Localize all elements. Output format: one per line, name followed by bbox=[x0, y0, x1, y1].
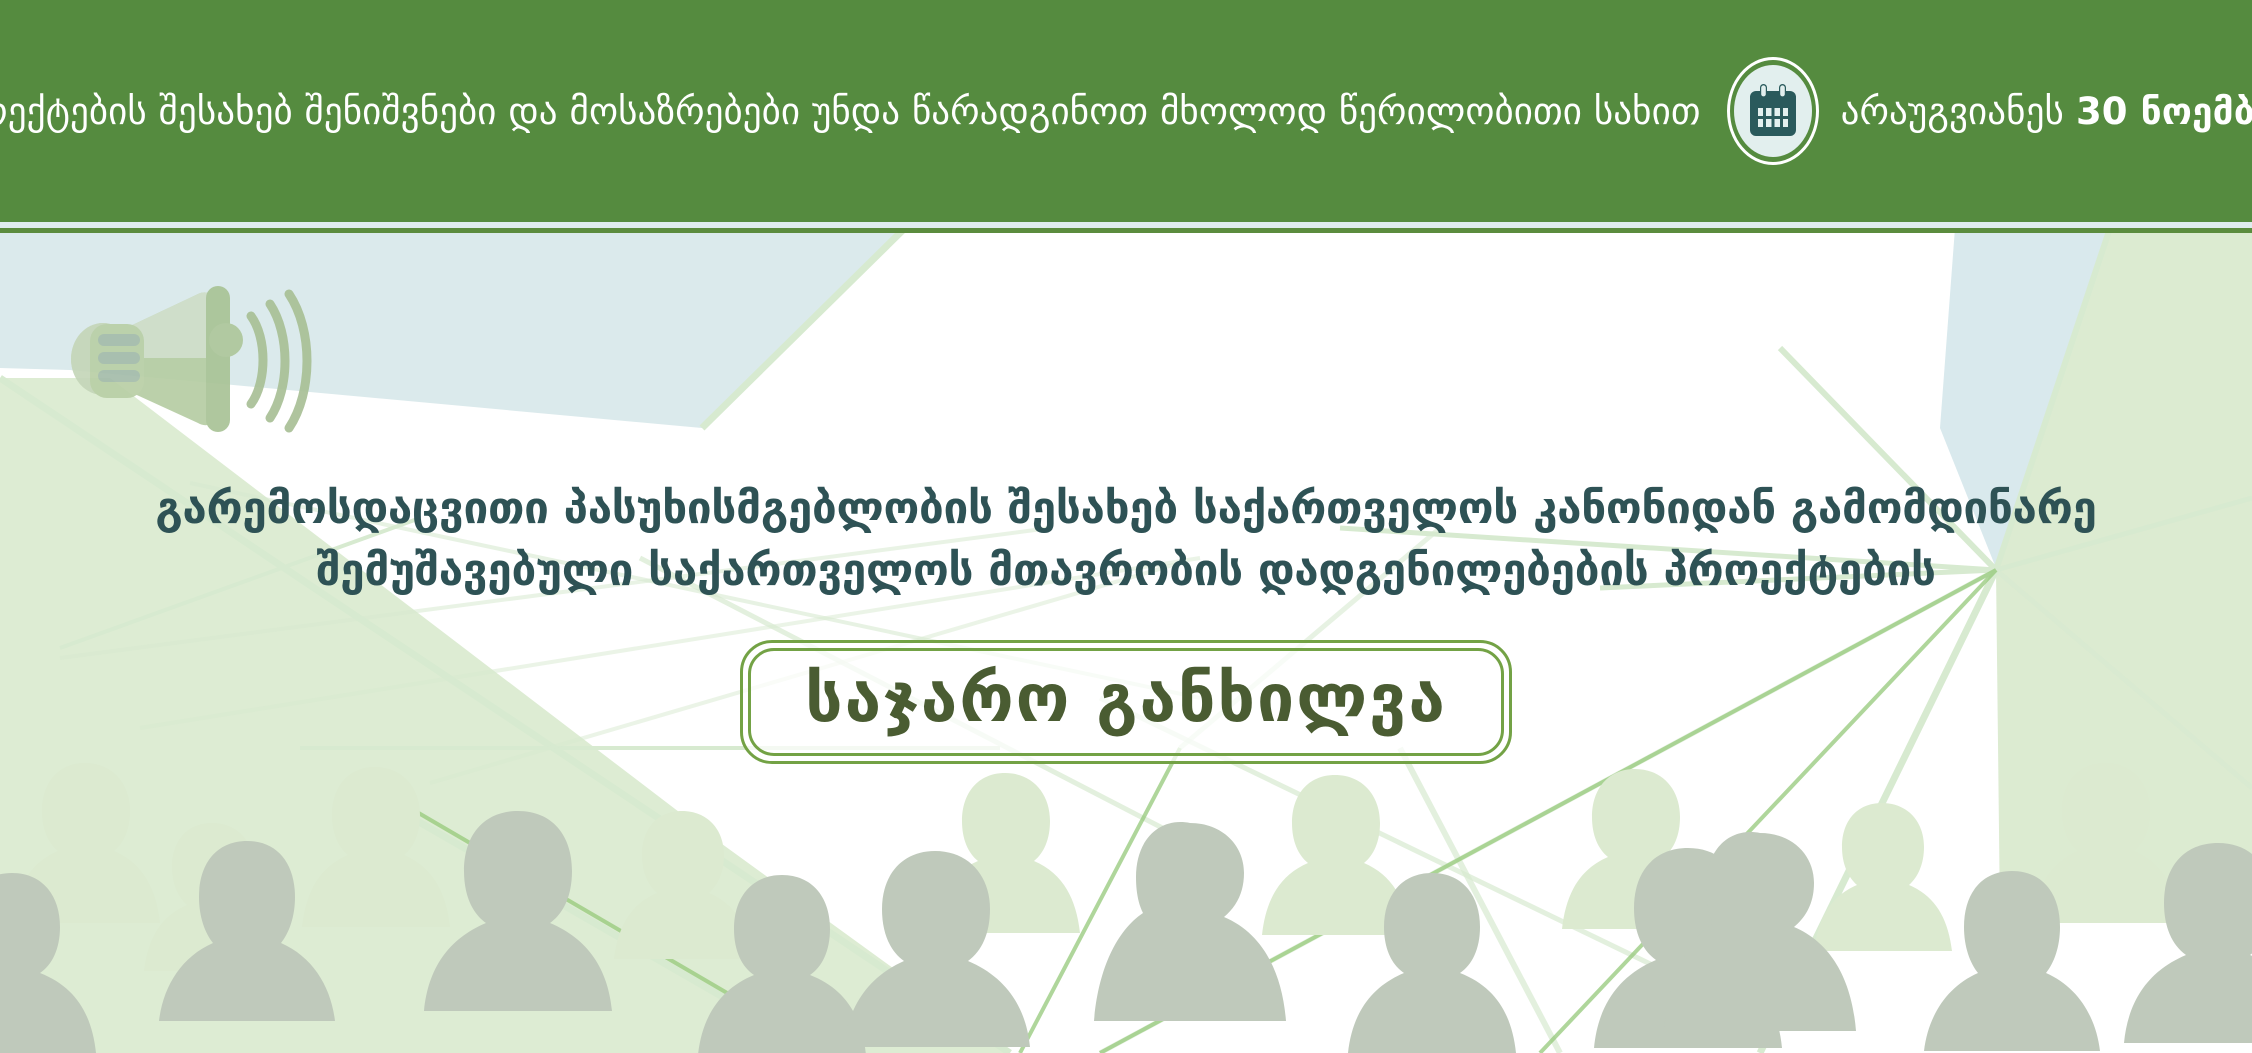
megaphone-icon bbox=[48, 272, 318, 452]
headline-line-2: შემუშავებული საქართველოს მთავრობის დადგე… bbox=[0, 540, 2252, 602]
banner-notice-text: პროექტების შესახებ შენიშვნები და მოსაზრე… bbox=[0, 93, 1701, 130]
megaphone-rim bbox=[206, 286, 230, 432]
megaphone-knob bbox=[209, 323, 243, 357]
calendar-icon bbox=[1727, 57, 1819, 165]
banner-content: პროექტების შესახებ შენიშვნები და მოსაზრე… bbox=[0, 57, 2252, 165]
badge-label: საჯარო განხილვა bbox=[805, 661, 1447, 737]
banner-divider-rule bbox=[0, 228, 2252, 233]
megaphone-fingers bbox=[98, 334, 140, 382]
banner-deadline-date: 30 ნოემბრისა bbox=[2076, 93, 2252, 130]
banner-deadline-prefix: არაუგვიანეს bbox=[1841, 93, 2064, 130]
badge-inner-border: საჯარო განხილვა bbox=[748, 648, 1504, 756]
top-notice-banner: პროექტების შესახებ შენიშვნები და მოსაზრე… bbox=[0, 0, 2252, 222]
headline-block: გარემოსდაცვითი პასუხისმგებლობის შესახებ … bbox=[0, 478, 2252, 602]
public-hearing-badge: საჯარო განხილვა bbox=[0, 640, 2252, 764]
calendar-glyph bbox=[1747, 83, 1799, 139]
crowd-back-row bbox=[12, 763, 2180, 981]
megaphone-sound-waves bbox=[251, 294, 307, 428]
headline-line-1: გარემოსდაცვითი პასუხისმგებლობის შესახებ … bbox=[0, 478, 2252, 540]
crowd-silhouettes bbox=[0, 723, 2252, 1053]
badge-outer-border: საჯარო განხილვა bbox=[740, 640, 1512, 764]
poster-canvas: გარემოსდაცვითი პასუხისმგებლობის შესახებ … bbox=[0, 0, 2252, 1053]
